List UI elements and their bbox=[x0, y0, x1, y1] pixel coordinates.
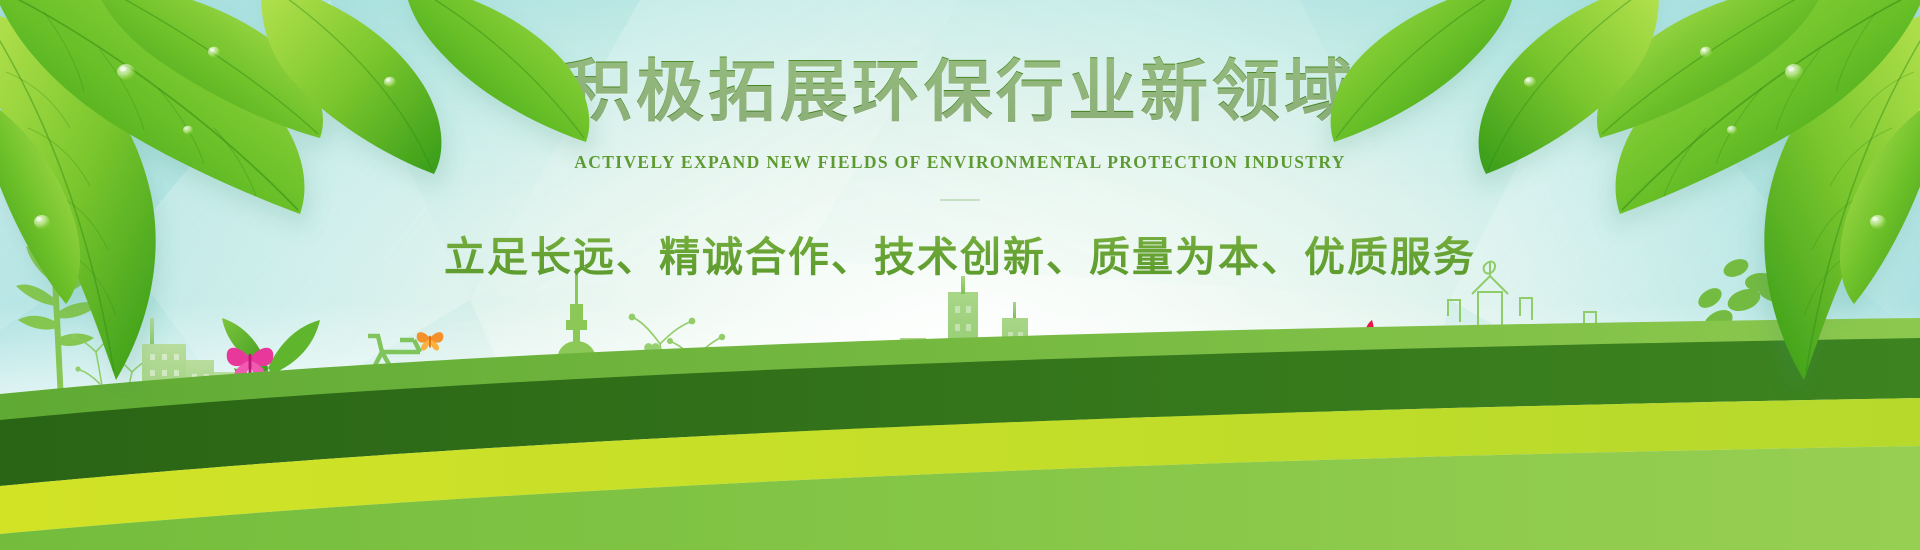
eco-banner: 积极拓展环保行业新领域 ACTIVELY EXPAND NEW FIELDS O… bbox=[0, 0, 1920, 550]
leaves-layer bbox=[0, 0, 1920, 550]
